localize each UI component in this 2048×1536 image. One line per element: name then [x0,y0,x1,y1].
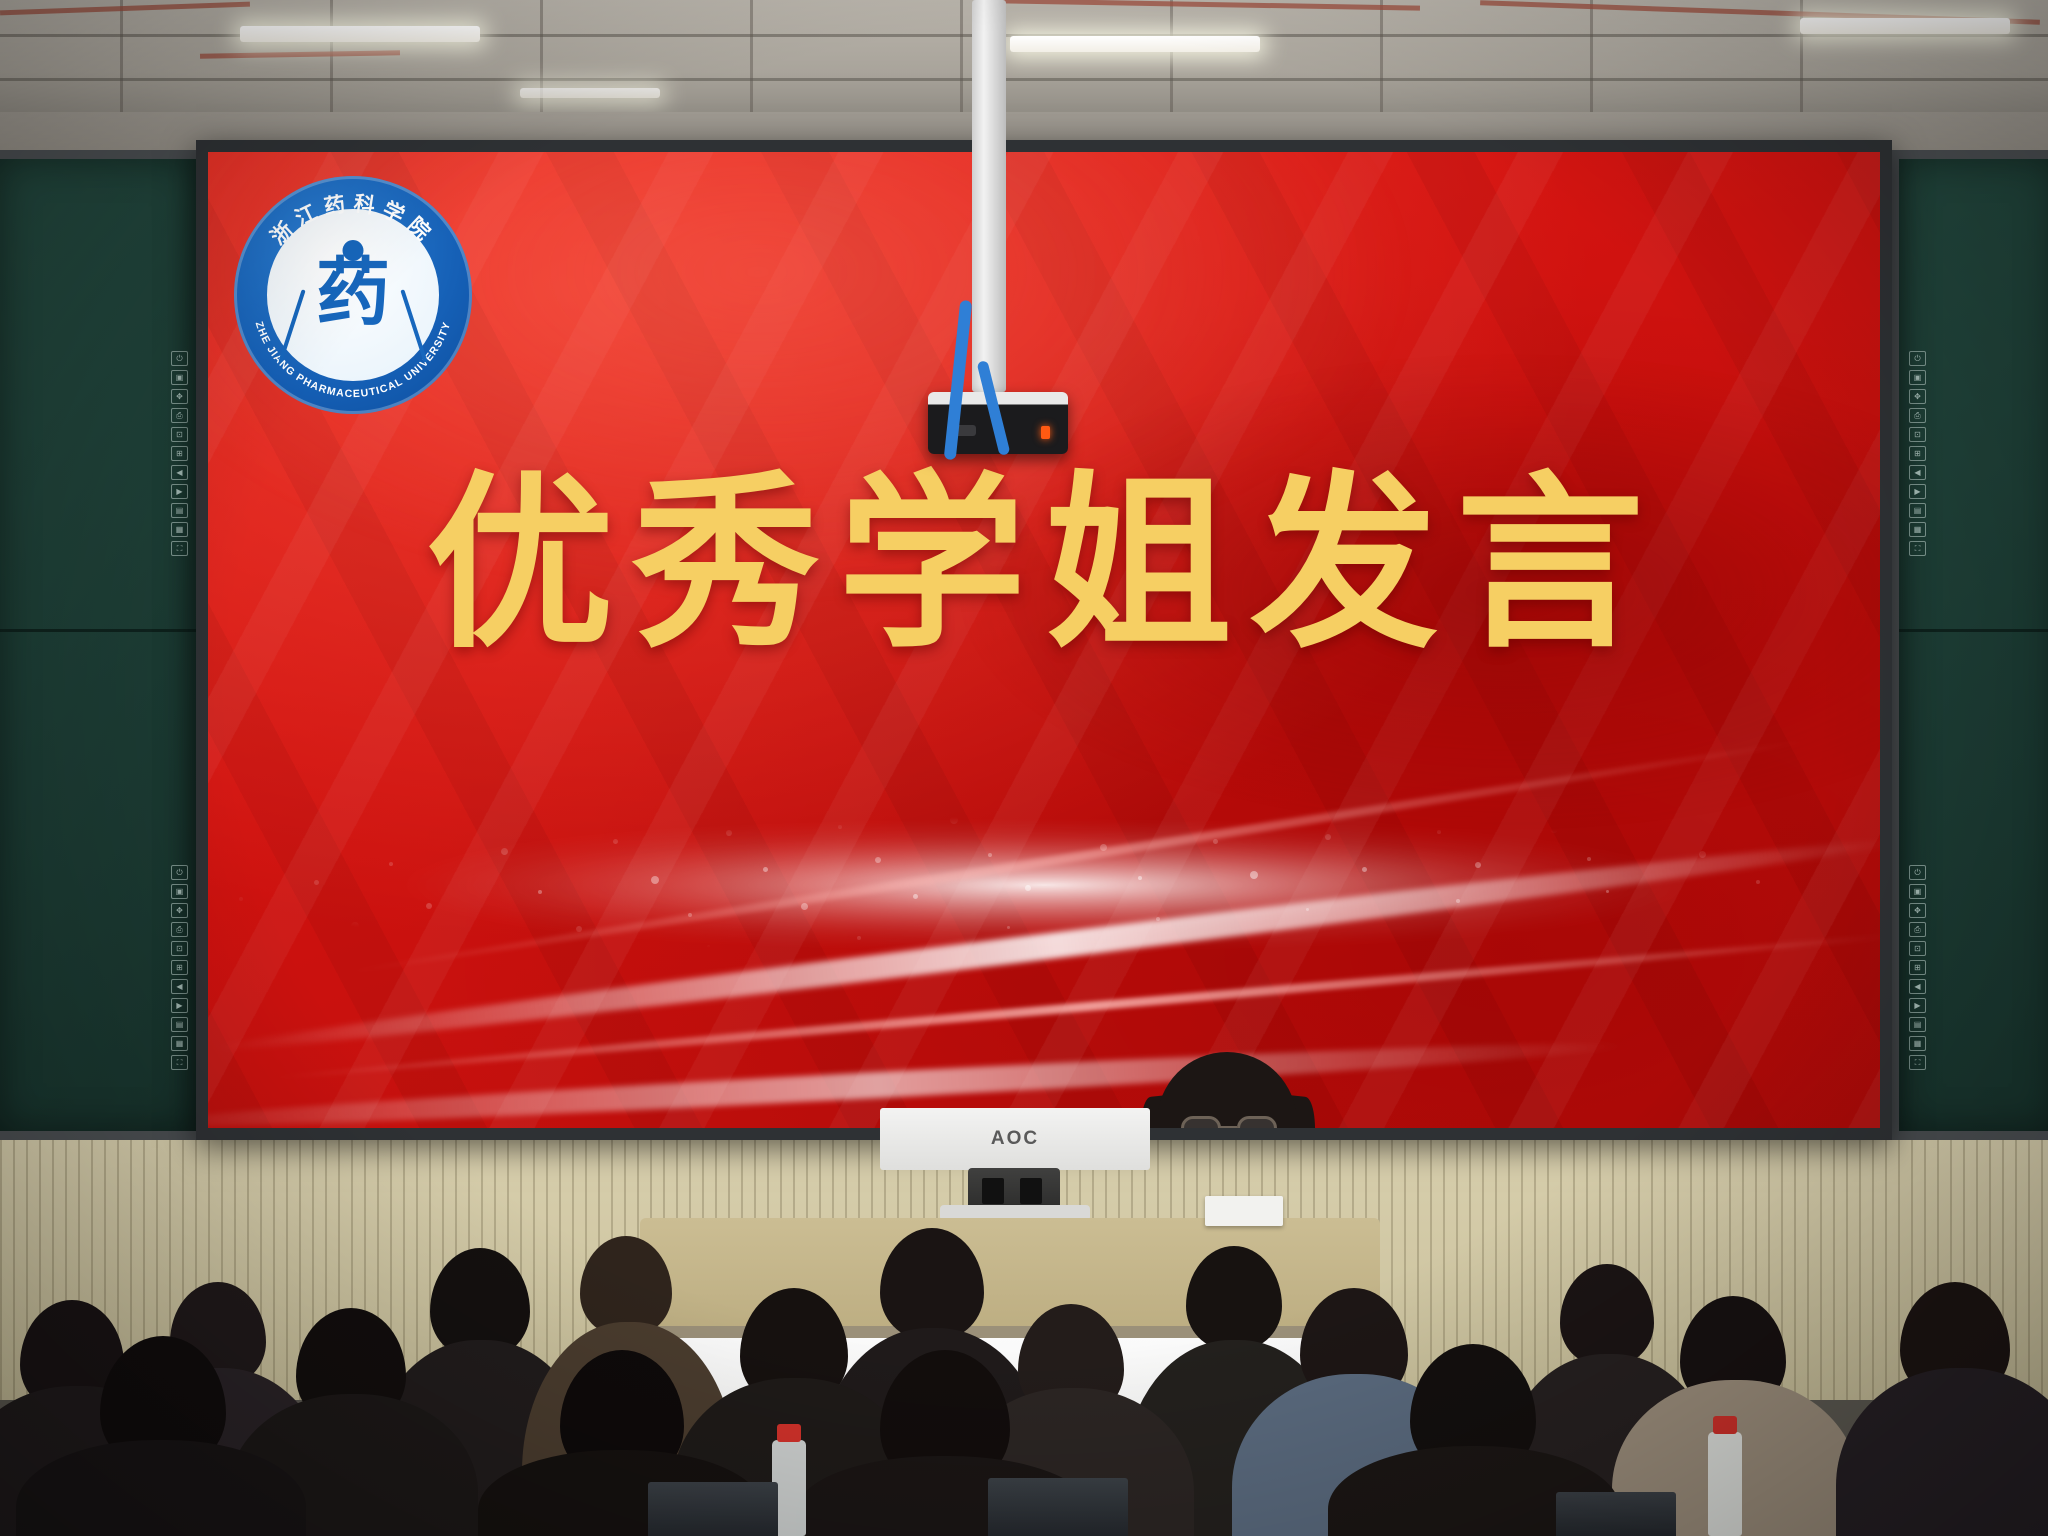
board-key-screen[interactable]: ▣ [171,370,188,385]
board-key-prev[interactable]: ◀ [1909,465,1926,480]
water-bottle [1708,1432,1742,1536]
board-key-grid[interactable]: ▤ [1909,1017,1926,1032]
projector-status-led [1041,426,1050,439]
podium-top-edge [640,1218,1380,1244]
board-key-lock[interactable]: ⎙ [1909,922,1926,937]
glasses-left-lens [1181,1116,1221,1140]
glasses-right-lens [1237,1116,1277,1140]
board-key-power[interactable]: ⏻ [171,865,188,880]
emblem-center-glyph: 药 [316,257,390,331]
board-key-fullscreen[interactable]: ⛶ [1909,541,1926,556]
audience-shoulders [1836,1368,2048,1536]
projection-screen: 浙江药科学院 ZHE JIANG PHARMACEUTICAL UNIVERSI… [196,140,1892,1140]
audience-laptop [988,1478,1128,1536]
monitor-port [982,1178,1004,1204]
board-key-panel-b[interactable]: ⊞ [171,446,188,461]
bottle-cap [1713,1416,1737,1434]
board-key-move[interactable]: ✥ [1909,903,1926,918]
board-key-panel-a[interactable]: ⊡ [1909,941,1926,956]
board-key-screen[interactable]: ▣ [171,884,188,899]
board-key-next[interactable]: ▶ [1909,998,1926,1013]
glasses-bridge [1219,1126,1237,1129]
aoc-monitor: AOC [880,1108,1150,1170]
board-button-strip-right-lower[interactable]: ⏻ ▣ ✥ ⎙ ⊡ ⊞ ◀ ▶ ▤ ▦ ⛶ [1909,865,1926,1070]
chalkboard-right: ⏻ ▣ ✥ ⎙ ⊡ ⊞ ◀ ▶ ▤ ▦ ⛶ ⏻ ▣ ✥ ⎙ ⊡ ⊞ ◀ ▶ ▤ … [1890,150,2048,1140]
particle-wave [196,770,1892,1000]
board-key-fullscreen[interactable]: ⛶ [171,541,188,556]
board-key-prev[interactable]: ◀ [1909,979,1926,994]
audience-head [1560,1264,1654,1366]
board-key-prev[interactable]: ◀ [171,465,188,480]
ceiling-light [1800,18,2010,34]
ceiling [0,0,2048,120]
board-button-strip-right-upper[interactable]: ⏻ ▣ ✥ ⎙ ⊡ ⊞ ◀ ▶ ▤ ▦ ⛶ [1909,351,1926,556]
projector-mount-pole [972,0,1006,392]
board-key-move[interactable]: ✥ [1909,389,1926,404]
board-key-fullscreen[interactable]: ⛶ [1909,1055,1926,1070]
board-key-next[interactable]: ▶ [171,998,188,1013]
board-key-next[interactable]: ▶ [1909,484,1926,499]
board-key-grid[interactable]: ▤ [171,503,188,518]
ceiling-light [240,26,480,42]
board-key-panel-b[interactable]: ⊞ [1909,960,1926,975]
ceiling-light [1010,36,1260,52]
board-key-panel-a[interactable]: ⊡ [171,427,188,442]
board-key-power[interactable]: ⏻ [171,351,188,366]
board-key-lock[interactable]: ⎙ [171,922,188,937]
board-button-strip-left-lower[interactable]: ⏻ ▣ ✥ ⎙ ⊡ ⊞ ◀ ▶ ▤ ▦ ⛶ [171,865,188,1070]
board-key-list[interactable]: ▦ [171,1036,188,1051]
board-key-panel-b[interactable]: ⊞ [1909,446,1926,461]
university-emblem: 浙江药科学院 ZHE JIANG PHARMACEUTICAL UNIVERSI… [234,176,472,414]
board-key-list[interactable]: ▦ [171,522,188,537]
board-key-grid[interactable]: ▤ [1909,503,1926,518]
board-key-prev[interactable]: ◀ [171,979,188,994]
audience [0,1270,2048,1536]
board-key-power[interactable]: ⏻ [1909,865,1926,880]
board-key-lock[interactable]: ⎙ [171,408,188,423]
board-key-next[interactable]: ▶ [171,484,188,499]
board-key-power[interactable]: ⏻ [1909,351,1926,366]
audience-laptop [648,1482,778,1536]
board-key-fullscreen[interactable]: ⛶ [171,1055,188,1070]
board-key-screen[interactable]: ▣ [1909,370,1926,385]
board-button-strip-left-upper[interactable]: ⏻ ▣ ✥ ⎙ ⊡ ⊞ ◀ ▶ ▤ ▦ ⛶ [171,351,188,556]
chalkboard-left: ⏻ ▣ ✥ ⎙ ⊡ ⊞ ◀ ▶ ▤ ▦ ⛶ ⏻ ▣ ✥ ⎙ ⊡ ⊞ ◀ ▶ ▤ … [0,150,205,1140]
particle-cluster [196,770,1892,1000]
aoc-logo: AOC [991,1128,1039,1150]
board-key-list[interactable]: ▦ [1909,522,1926,537]
board-key-panel-a[interactable]: ⊡ [171,941,188,956]
board-key-grid[interactable]: ▤ [171,1017,188,1032]
board-key-list[interactable]: ▦ [1909,1036,1926,1051]
lecture-hall-scene: ⏻ ▣ ✥ ⎙ ⊡ ⊞ ◀ ▶ ▤ ▦ ⛶ ⏻ ▣ ✥ ⎙ ⊡ ⊞ ◀ ▶ ▤ … [0,0,2048,1536]
monitor-port [1020,1178,1042,1204]
ceiling-light [520,88,660,98]
board-key-move[interactable]: ✥ [171,389,188,404]
audience-laptop [1556,1492,1676,1536]
bottle-cap [777,1424,801,1442]
board-key-panel-b[interactable]: ⊞ [171,960,188,975]
board-key-lock[interactable]: ⎙ [1909,408,1926,423]
board-key-panel-a[interactable]: ⊡ [1909,427,1926,442]
board-key-screen[interactable]: ▣ [1909,884,1926,899]
board-key-move[interactable]: ✥ [171,903,188,918]
slide-title: 优秀学姐发言 [208,472,1880,660]
